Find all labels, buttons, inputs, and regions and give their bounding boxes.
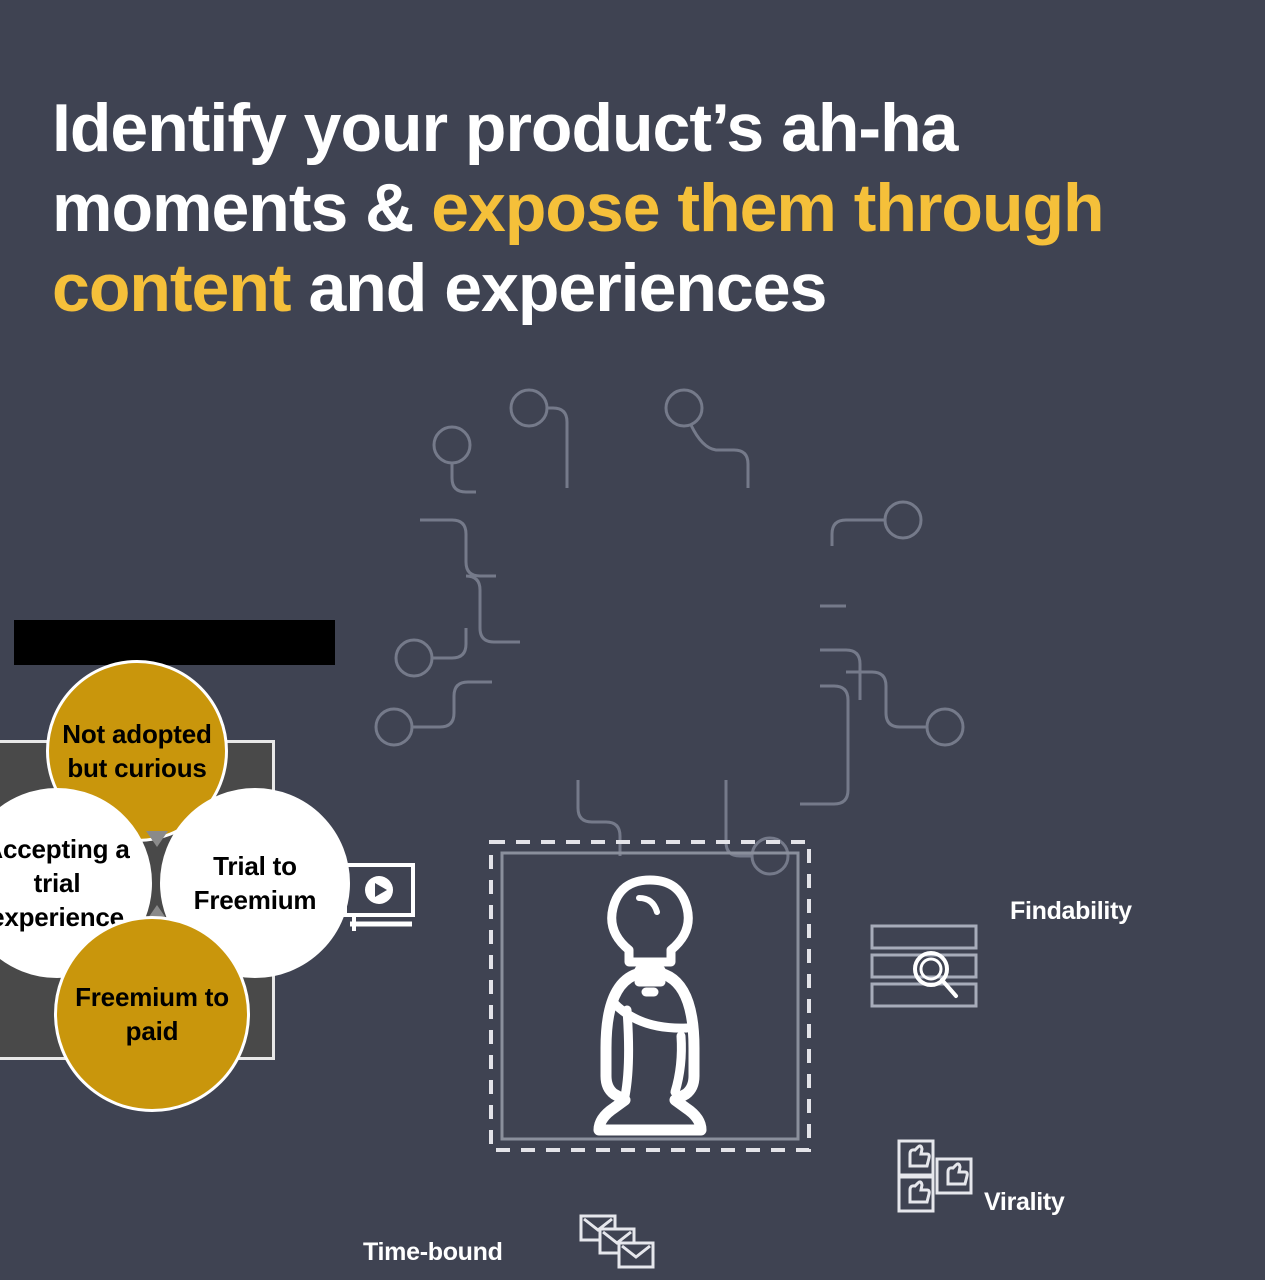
redaction-bar bbox=[14, 620, 335, 665]
thumbs-up-icon bbox=[896, 1138, 974, 1219]
bubble-label: Freemium to paid bbox=[57, 980, 247, 1048]
node-label-time-bound: Time-bound bbox=[363, 1238, 503, 1267]
node-label-virality: Virality bbox=[984, 1188, 1065, 1217]
bubble-freemium-to-paid[interactable]: Freemium to paid bbox=[54, 916, 250, 1112]
bubble-label: Trial to Freemium bbox=[163, 849, 347, 917]
bubble-label: Not adopted but curious bbox=[49, 717, 225, 785]
envelopes-icon bbox=[578, 1213, 658, 1280]
lifecycle-bubbles-overlay: Not adopted but curious Accepting a tria… bbox=[0, 0, 1265, 1055]
arrow-down-icon bbox=[146, 831, 168, 847]
